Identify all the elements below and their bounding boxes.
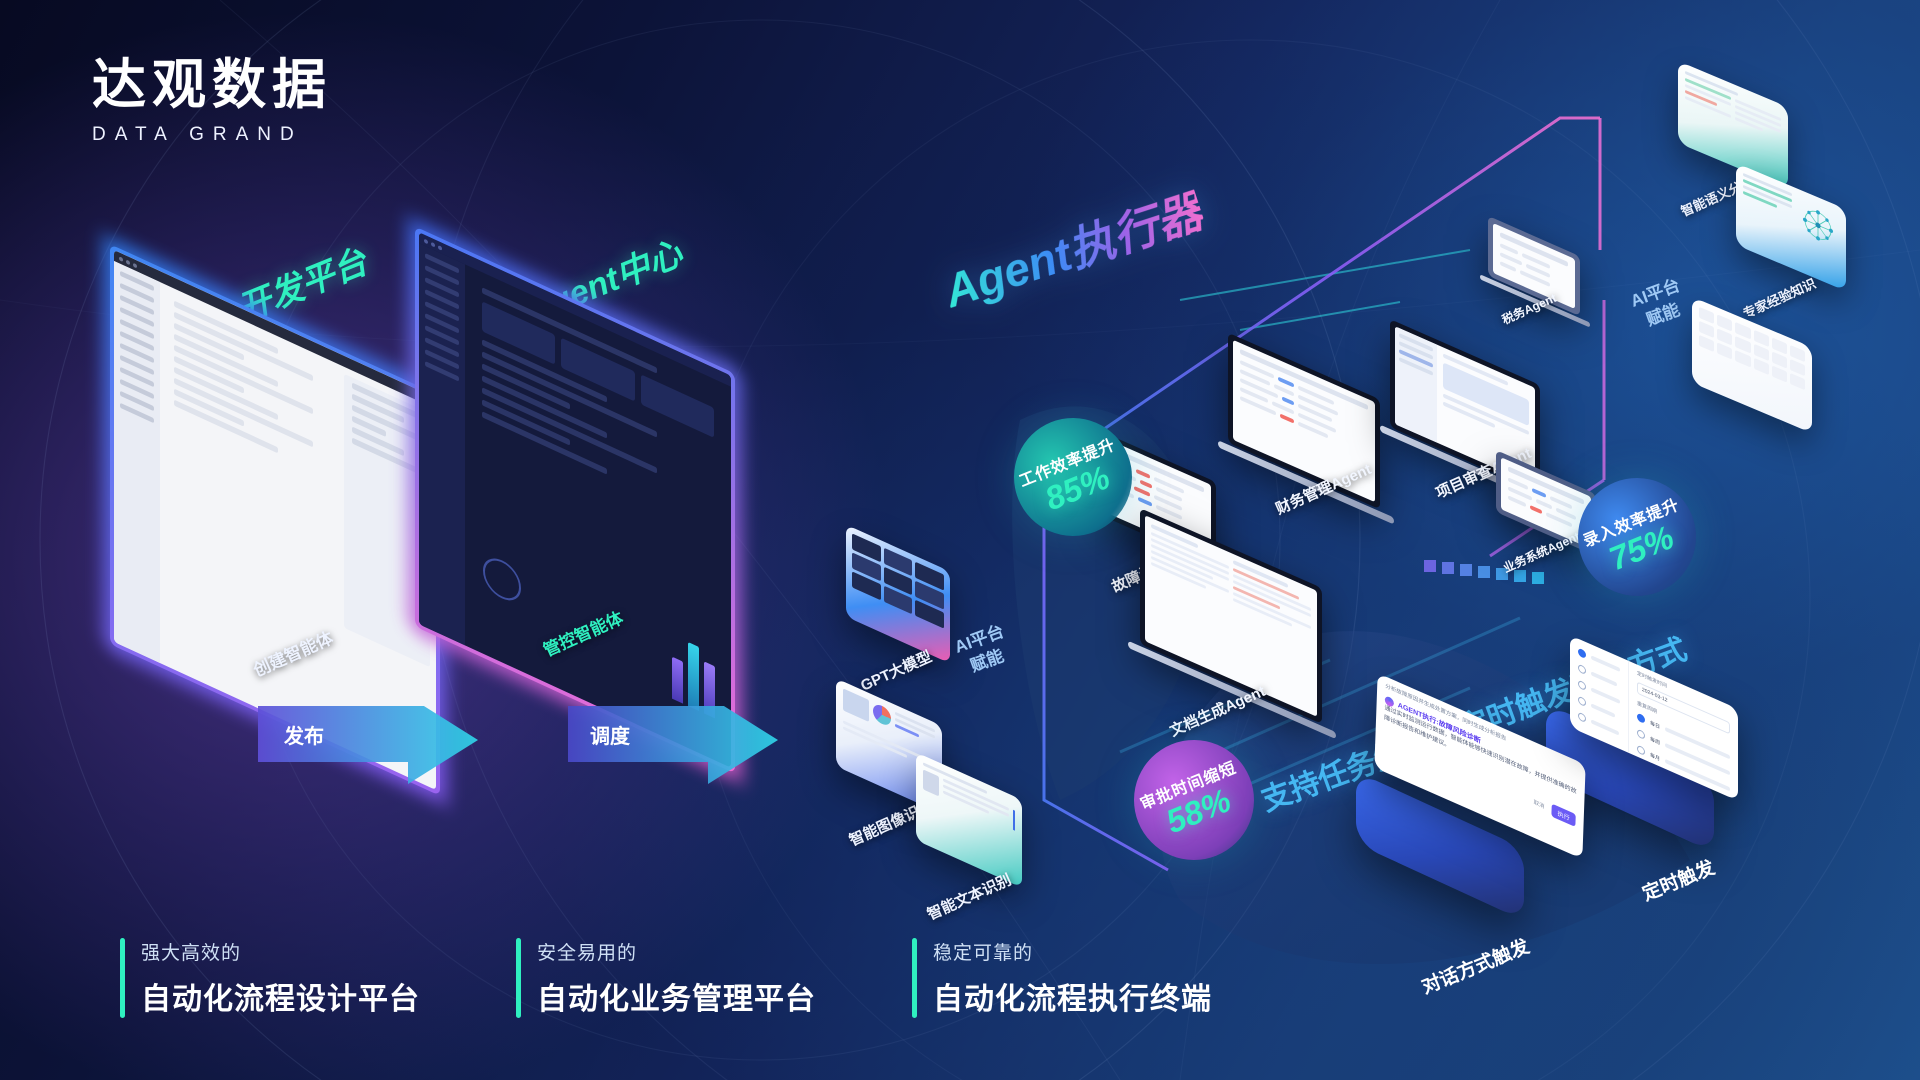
footer-caption-item: 强大高效的 自动化流程设计平台 [120, 938, 420, 1018]
caption-accent-bar [516, 938, 521, 1018]
caption-main: 自动化业务管理平台 [537, 974, 816, 1018]
metric-badge-data-entry: 录入效率提升 75% [1560, 460, 1714, 614]
knowledge-card-semantic-analysis[interactable] [1678, 61, 1788, 189]
schedule-option-1[interactable]: 每周 [1650, 735, 1660, 746]
caption-accent-bar [912, 938, 917, 1018]
schedule-option-0[interactable]: 每日 [1650, 719, 1660, 730]
device-label-document-generation: 文档生成Agent [1166, 680, 1268, 741]
ai-platform-enable-left: AI平台 赋能 [952, 621, 1016, 682]
monitor-multi-agent-center[interactable] [415, 226, 735, 773]
capability-label-text-recognition: 智能文本识别 [924, 869, 1015, 925]
gauge-widget [483, 552, 521, 607]
knowledge-card-expert-knowledge[interactable] [1736, 163, 1846, 291]
footer-captions: 强大高效的 自动化流程设计平台 安全易用的 自动化业务管理平台 稳定可靠的 自动… [120, 938, 1212, 1018]
arrow-schedule: 调度 [568, 706, 788, 798]
capability-card-gpt[interactable] [846, 525, 950, 664]
mini-table [1233, 340, 1375, 470]
capability-card-text-recognition[interactable] [916, 752, 1022, 888]
caption-accent-bar [120, 938, 125, 1018]
monitor-screen [419, 232, 731, 768]
caption-sub: 安全易用的 [537, 938, 816, 965]
caption-sub: 稳定可靠的 [933, 938, 1212, 965]
schedule-option-2[interactable]: 每月 [1650, 751, 1660, 762]
metric-badge-efficiency: 工作效率提升 85% [996, 400, 1150, 554]
arrow-publish-label: 发布 [284, 720, 324, 749]
screen-sidebar [114, 261, 160, 663]
infographic-poster: 达观数据 DATA GRAND Agent开发平台 Multi-Agent中心 … [0, 0, 1920, 1080]
trigger-mode-label-schedule: 定时触发 [1638, 853, 1719, 907]
brand-name-en: DATA GRAND [92, 124, 332, 146]
footer-caption-item: 安全易用的 自动化业务管理平台 [516, 938, 816, 1018]
chat-cancel-button[interactable]: 取消 [1533, 798, 1544, 811]
monitor-frame [415, 226, 735, 773]
brand-logo: 达观数据 DATA GRAND [92, 58, 332, 146]
caption-main: 自动化流程执行终端 [933, 974, 1212, 1018]
ai-platform-enable-right: AI平台 赋能 [1628, 275, 1692, 336]
card-thumbnail [916, 752, 1022, 888]
capability-label-gpt: GPT大模型 [857, 645, 935, 695]
knowledge-graph-icon [1797, 196, 1839, 256]
brand-name-cn: 达观数据 [92, 58, 332, 112]
screen-canvas [166, 292, 340, 738]
knowledge-label-expert-knowledge: 专家经验知识 [1740, 273, 1819, 322]
footer-caption-item: 稳定可靠的 自动化流程执行终端 [912, 938, 1212, 1018]
caption-main: 自动化流程设计平台 [141, 974, 420, 1018]
card-thumbnail [846, 525, 950, 664]
arrow-schedule-label: 调度 [590, 720, 630, 749]
metric-badge-approval-time: 审批时间缩短 58% [1116, 722, 1272, 878]
caption-sub: 强大高效的 [141, 938, 420, 965]
arrow-publish: 发布 [258, 706, 488, 798]
screen-sidebar [419, 243, 465, 645]
section-title-agent-executor: Agent执行器 [935, 175, 1211, 321]
trigger-mode-label-chat: 对话方式触发 [1417, 932, 1533, 1000]
